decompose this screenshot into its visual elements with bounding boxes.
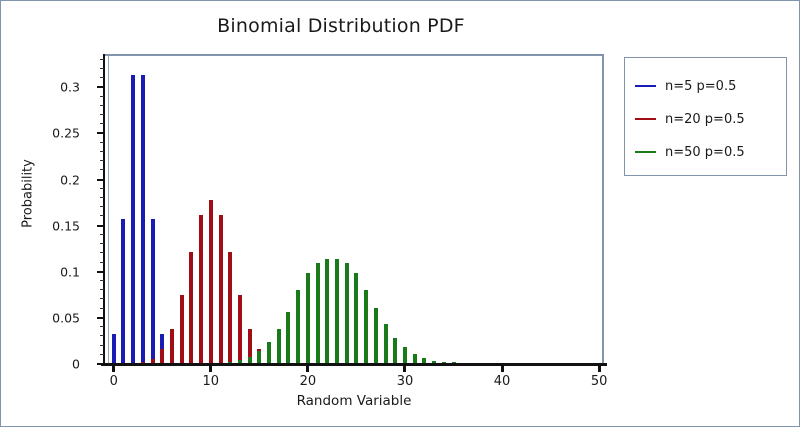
bar-n50-30: [403, 347, 407, 363]
x-tick-major: [306, 364, 309, 372]
bar-n20-8: [189, 252, 193, 363]
bar-n50-15: [257, 351, 261, 363]
bar-n50-32: [422, 358, 426, 363]
bar-n20-7: [180, 295, 184, 363]
legend-label: n=20 p=0.5: [665, 112, 745, 127]
y-tick-minor: [100, 188, 104, 189]
y-tick-minor: [100, 345, 104, 346]
y-tick-minor: [100, 206, 104, 207]
bar-n50-23: [335, 259, 339, 363]
x-tick-major: [112, 364, 115, 372]
bar-n50-14: [248, 357, 252, 363]
y-tick-minor: [100, 298, 104, 299]
y-tick-minor: [100, 77, 104, 78]
y-tick-minor: [100, 262, 104, 263]
bar-n50-25: [354, 273, 358, 363]
y-tick-minor: [100, 59, 104, 60]
bar-n50-13: [238, 360, 242, 363]
x-tick-label: 10: [203, 374, 220, 389]
bar-n5-2: [131, 75, 135, 363]
bar-n50-35: [452, 362, 456, 363]
bar-n5-1: [121, 219, 125, 363]
y-tick-layer: [94, 54, 104, 364]
legend-item-1[interactable]: n=20 p=0.5: [635, 109, 745, 129]
bar-n20-3: [141, 362, 145, 363]
bar-n50-29: [393, 338, 397, 363]
x-axis-label: Random Variable: [104, 393, 604, 409]
y-tick-label: 0.25: [52, 126, 80, 141]
y-tick-major: [97, 363, 104, 365]
legend-item-2[interactable]: n=50 p=0.5: [635, 142, 745, 162]
y-tick-minor: [100, 280, 104, 281]
bar-n50-27: [374, 308, 378, 363]
y-tick-minor: [100, 123, 104, 124]
y-tick-minor: [100, 354, 104, 355]
bar-n20-11: [219, 215, 223, 363]
y-tick-label: 0.15: [52, 218, 80, 233]
y-tick-major: [97, 132, 104, 134]
y-tick-label: 0.3: [60, 80, 80, 95]
y-tick-label: 0.05: [52, 310, 80, 325]
bar-n50-12: [228, 362, 232, 363]
bar-n50-19: [296, 290, 300, 363]
bar-n50-33: [432, 361, 436, 363]
y-tick-minor: [100, 252, 104, 253]
bar-n20-5: [160, 349, 164, 363]
y-tick-label: 0.1: [60, 264, 80, 279]
y-tick-minor: [100, 96, 104, 97]
bar-n50-18: [286, 312, 290, 363]
bar-n50-24: [345, 263, 349, 363]
y-tick-major: [97, 271, 104, 273]
y-tick-label: 0: [72, 357, 80, 372]
x-tick-label: 0: [110, 374, 118, 389]
y-tick-minor: [100, 169, 104, 170]
bar-n50-17: [277, 329, 281, 363]
x-tick-label: 50: [591, 374, 608, 389]
y-axis-label: Probability: [21, 144, 36, 244]
x-tick-major: [209, 364, 212, 372]
y-tick-major: [97, 86, 104, 88]
legend-label: n=5 p=0.5: [665, 79, 736, 94]
y-tick-minor: [100, 243, 104, 244]
legend-item-0[interactable]: n=5 p=0.5: [635, 76, 736, 96]
x-tick-label: 40: [494, 374, 511, 389]
legend-label: n=50 p=0.5: [665, 145, 745, 160]
x-tick-major: [403, 364, 406, 372]
bar-n50-34: [442, 362, 446, 363]
y-tick-minor: [100, 142, 104, 143]
legend-swatch-icon: [635, 118, 656, 120]
x-tick-label: 20: [300, 374, 317, 389]
bar-n20-10: [209, 200, 213, 363]
y-tick-minor: [100, 234, 104, 235]
bar-n50-28: [384, 324, 388, 363]
bar-n50-16: [267, 342, 271, 363]
bar-n20-6: [170, 329, 174, 363]
y-tick-minor: [100, 335, 104, 336]
y-tick-minor: [100, 197, 104, 198]
y-tick-minor: [100, 160, 104, 161]
bar-n5-4: [151, 219, 155, 363]
y-tick-major: [97, 317, 104, 319]
y-tick-minor: [100, 326, 104, 327]
y-tick-major: [97, 179, 104, 181]
chart-figure: Binomial Distribution PDF 00.050.10.150.…: [0, 0, 800, 427]
bar-n20-12: [228, 252, 232, 363]
bars-layer: [104, 54, 604, 363]
bar-n50-26: [364, 290, 368, 363]
x-tick-label: 30: [397, 374, 414, 389]
y-tick-label: 0.2: [60, 172, 80, 187]
bar-n50-21: [316, 263, 320, 363]
y-tick-minor: [100, 68, 104, 69]
y-tick-minor: [100, 289, 104, 290]
x-tick-major: [598, 364, 601, 372]
bar-n50-20: [306, 273, 310, 363]
legend-swatch-icon: [635, 85, 656, 87]
y-tick-major: [97, 225, 104, 227]
bar-n20-4: [151, 359, 155, 363]
legend-swatch-icon: [635, 151, 656, 153]
bar-n5-0: [112, 334, 116, 363]
chart-title: Binomial Distribution PDF: [1, 15, 681, 37]
y-tick-minor: [100, 151, 104, 152]
x-tick-major: [501, 364, 504, 372]
y-tick-minor: [100, 114, 104, 115]
chart-legend: n=5 p=0.5n=20 p=0.5n=50 p=0.5: [624, 57, 787, 176]
y-tick-label-layer: 00.050.10.150.20.250.3: [1, 54, 94, 364]
bar-n5-3: [141, 75, 145, 363]
y-tick-minor: [100, 215, 104, 216]
bar-n50-31: [413, 354, 417, 363]
bar-n20-13: [238, 295, 242, 363]
y-tick-minor: [100, 308, 104, 309]
y-tick-minor: [100, 105, 104, 106]
bar-n50-22: [325, 259, 329, 363]
x-tick-layer: 01020304050: [104, 364, 604, 374]
bar-n20-9: [199, 215, 203, 363]
